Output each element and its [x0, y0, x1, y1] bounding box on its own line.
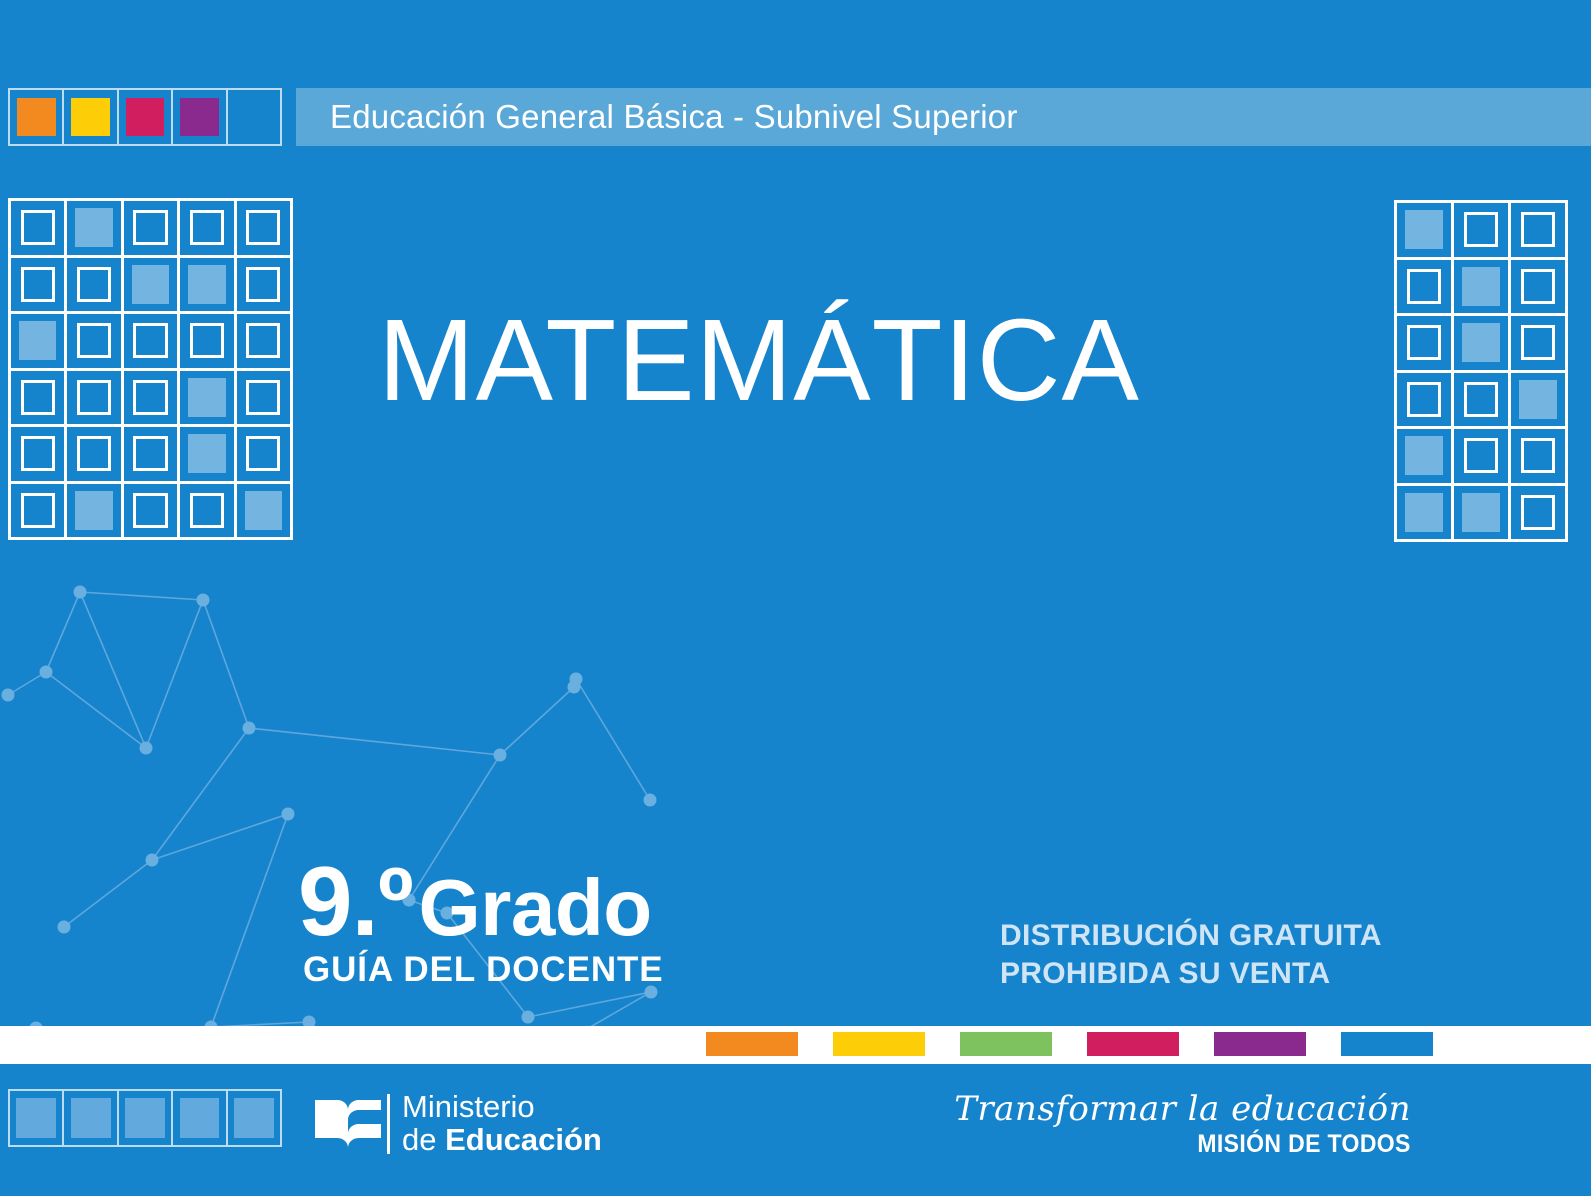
- grid-cell: [124, 201, 180, 258]
- grid-cell: [1454, 373, 1511, 430]
- chip-magenta-swatch: [126, 98, 165, 137]
- grid-cell-filled: [132, 265, 169, 304]
- network-edge: [574, 679, 576, 687]
- grid-cell: [237, 201, 293, 258]
- footer-chip: [64, 1091, 118, 1145]
- grid-cell-filled: [188, 265, 225, 304]
- chip-yellow-swatch: [71, 98, 110, 137]
- grid-cell-outline: [77, 323, 111, 358]
- grid-cell: [67, 484, 123, 541]
- grid-cell: [1454, 203, 1511, 260]
- network-edge: [249, 728, 500, 755]
- footer-chip-swatch: [234, 1098, 274, 1138]
- chip-purple-swatch: [180, 98, 219, 137]
- ministry-line-2: de Educación: [402, 1124, 602, 1157]
- palette-swatches: [706, 1032, 1433, 1056]
- grid-cell-outline: [133, 210, 167, 245]
- grid-cell-outline: [1407, 325, 1442, 360]
- tagline-script: Transformar la educación: [954, 1092, 1411, 1128]
- swatch-green: [960, 1032, 1052, 1056]
- open-book-icon: [313, 1094, 383, 1154]
- chip-orange: [10, 90, 64, 144]
- grid-cell-outline: [133, 493, 167, 528]
- grid-cell: [237, 484, 293, 541]
- book-cover: Educación General Básica - Subnivel Supe…: [0, 0, 1591, 1196]
- government-tagline: Transformar la educación MISIÓN DE TODOS: [954, 1092, 1411, 1159]
- grid-cell: [1511, 203, 1568, 260]
- grid-cell: [1397, 486, 1454, 543]
- header-banner: Educación General Básica - Subnivel Supe…: [296, 88, 1591, 146]
- grid-cell-outline: [1521, 325, 1556, 360]
- footer-chip-swatch: [180, 1098, 220, 1138]
- page-title: MATEMÁTICA: [378, 302, 1140, 418]
- chip-orange-swatch: [17, 98, 56, 137]
- grid-cell: [180, 258, 236, 315]
- grid-cell-outline: [77, 267, 111, 302]
- grid-cell: [67, 314, 123, 371]
- grid-cell: [11, 427, 67, 484]
- swatch-blue: [1341, 1032, 1433, 1056]
- grid-cell-outline: [77, 436, 111, 471]
- grid-cell: [67, 201, 123, 258]
- grid-cell-filled: [1462, 267, 1500, 306]
- grid-cell-outline: [246, 323, 280, 358]
- grade-subtitle: GUÍA DEL DOCENTE: [298, 950, 664, 990]
- grid-cell: [124, 314, 180, 371]
- grid-cell: [1511, 486, 1568, 543]
- footer-chip-swatch: [125, 1098, 165, 1138]
- grid-cell: [237, 371, 293, 428]
- grid-cell-outline: [1407, 382, 1442, 417]
- distribution-notice: DISTRIBUCIÓN GRATUITA PROHIBIDA SU VENTA: [1000, 917, 1382, 993]
- grid-cell-filled: [1405, 436, 1443, 475]
- grid-cell-outline: [1521, 212, 1556, 247]
- footer-chip: [173, 1091, 227, 1145]
- distribution-line-1: DISTRIBUCIÓN GRATUITA: [1000, 917, 1382, 955]
- network-node: [568, 681, 581, 694]
- grid-cell: [124, 258, 180, 315]
- grid-cell-filled: [1462, 323, 1500, 362]
- grid-cell-outline: [246, 436, 280, 471]
- chip-blue-swatch: [234, 98, 273, 137]
- network-edge: [80, 592, 203, 600]
- swatch-purple: [1214, 1032, 1306, 1056]
- grade-number: 9.º: [298, 856, 413, 946]
- footer-chip: [228, 1091, 280, 1145]
- grid-cell: [237, 314, 293, 371]
- ministry-line-2-prefix: de: [402, 1122, 445, 1157]
- footer-chip-swatch: [16, 1098, 56, 1138]
- chip-purple: [173, 90, 227, 144]
- grid-cell-outline: [1521, 269, 1556, 304]
- grid-cell: [67, 371, 123, 428]
- grid-cell: [180, 314, 236, 371]
- network-edge: [528, 992, 651, 1017]
- grid-cell-filled: [1405, 493, 1443, 532]
- grid-cell-outline: [246, 380, 280, 415]
- ministry-wordmark: Ministerio de Educación: [402, 1091, 602, 1157]
- grid-cell: [1511, 260, 1568, 317]
- network-edge: [46, 592, 80, 672]
- grade-block: 9.º Grado GUÍA DEL DOCENTE: [298, 856, 664, 990]
- grid-cell: [11, 258, 67, 315]
- grid-cell: [180, 427, 236, 484]
- grid-cell: [1397, 203, 1454, 260]
- network-node: [140, 742, 153, 755]
- network-node: [197, 594, 210, 607]
- network-node: [74, 586, 87, 599]
- grid-cell: [180, 484, 236, 541]
- grid-cell-outline: [1521, 438, 1556, 473]
- network-node: [146, 854, 159, 867]
- grid-cell-outline: [21, 380, 55, 415]
- grid-cell: [11, 371, 67, 428]
- network-edge: [203, 600, 249, 728]
- network-edge: [146, 600, 203, 748]
- network-edge: [80, 592, 146, 748]
- grid-cell: [1454, 260, 1511, 317]
- grid-cell: [1511, 316, 1568, 373]
- swatch-orange: [706, 1032, 798, 1056]
- network-node: [494, 749, 507, 762]
- header-subtitle: Educación General Básica - Subnivel Supe…: [296, 98, 1018, 136]
- grid-cell-outline: [1464, 382, 1499, 417]
- logo-divider: [387, 1094, 390, 1154]
- network-node: [522, 1011, 535, 1024]
- grid-cell-filled: [75, 208, 112, 247]
- grid-cell: [1454, 486, 1511, 543]
- grid-cell: [67, 258, 123, 315]
- grid-cell-outline: [190, 210, 224, 245]
- grid-cell-outline: [1464, 438, 1499, 473]
- grid-cell-outline: [21, 436, 55, 471]
- tagline-caps: MISIÓN DE TODOS: [991, 1130, 1411, 1159]
- grid-cell: [1511, 429, 1568, 486]
- grid-cell-outline: [1464, 212, 1499, 247]
- grid-cell: [180, 371, 236, 428]
- grid-cell: [124, 484, 180, 541]
- grid-cell-outline: [21, 493, 55, 528]
- network-edge: [8, 672, 46, 695]
- grid-cell: [124, 371, 180, 428]
- grid-cell: [1397, 260, 1454, 317]
- grid-cell-outline: [190, 493, 224, 528]
- grid-cell: [11, 201, 67, 258]
- grid-cell: [1397, 429, 1454, 486]
- grid-cell: [237, 258, 293, 315]
- ministry-line-2-bold: Educación: [445, 1122, 602, 1157]
- decorative-grid-left: [8, 198, 293, 540]
- network-node: [58, 921, 71, 934]
- grid-cell-outline: [1521, 495, 1556, 530]
- brand-color-chips: [8, 88, 282, 146]
- network-edge: [211, 814, 288, 1027]
- grid-cell-outline: [21, 267, 55, 302]
- network-edge: [152, 814, 288, 860]
- grid-cell-outline: [190, 323, 224, 358]
- grid-cell-filled: [1405, 210, 1443, 249]
- ministry-logo: Ministerio de Educación: [313, 1089, 602, 1159]
- network-edge: [64, 860, 152, 927]
- network-node: [282, 808, 295, 821]
- chip-magenta: [119, 90, 173, 144]
- footer-color-chips: [8, 1089, 282, 1147]
- network-edge: [576, 679, 650, 800]
- grid-cell-outline: [21, 210, 55, 245]
- swatch-yellow: [833, 1032, 925, 1056]
- grid-cell: [67, 427, 123, 484]
- ministry-line-1: Ministerio: [402, 1091, 602, 1124]
- grid-cell: [180, 201, 236, 258]
- network-node: [40, 666, 53, 679]
- grid-cell-filled: [245, 491, 282, 530]
- footer-chip-swatch: [71, 1098, 111, 1138]
- footer-chip: [10, 1091, 64, 1145]
- grid-cell-outline: [246, 210, 280, 245]
- grid-cell-filled: [188, 378, 225, 417]
- distribution-line-2: PROHIBIDA SU VENTA: [1000, 955, 1382, 993]
- grid-cell-outline: [133, 323, 167, 358]
- grid-cell-filled: [1462, 493, 1500, 532]
- network-node: [243, 722, 256, 735]
- chip-blue: [228, 90, 280, 144]
- network-edge: [152, 728, 249, 860]
- grid-cell-outline: [133, 380, 167, 415]
- grid-cell-outline: [77, 380, 111, 415]
- grid-cell-filled: [1519, 380, 1557, 419]
- header: Educación General Básica - Subnivel Supe…: [0, 88, 1591, 150]
- grid-cell: [1397, 373, 1454, 430]
- network-edge: [46, 672, 146, 748]
- grid-cell: [1454, 429, 1511, 486]
- grade-word: Grado: [419, 871, 652, 945]
- grid-cell: [11, 484, 67, 541]
- network-edge: [500, 687, 574, 755]
- footer-chip: [119, 1091, 173, 1145]
- network-node: [644, 794, 657, 807]
- swatch-magenta: [1087, 1032, 1179, 1056]
- grid-cell: [1454, 316, 1511, 373]
- grid-cell-outline: [246, 267, 280, 302]
- grid-cell-filled: [188, 434, 225, 473]
- grid-cell: [124, 427, 180, 484]
- decorative-grid-right: [1394, 200, 1568, 542]
- grid-cell: [1511, 373, 1568, 430]
- grid-cell-outline: [1407, 269, 1442, 304]
- grid-cell-filled: [19, 321, 56, 360]
- grid-cell-outline: [133, 436, 167, 471]
- grid-cell-filled: [75, 491, 112, 530]
- network-node: [570, 673, 583, 686]
- network-node: [2, 689, 15, 702]
- grid-cell: [11, 314, 67, 371]
- chip-yellow: [64, 90, 118, 144]
- grid-cell: [1397, 316, 1454, 373]
- grid-cell: [237, 427, 293, 484]
